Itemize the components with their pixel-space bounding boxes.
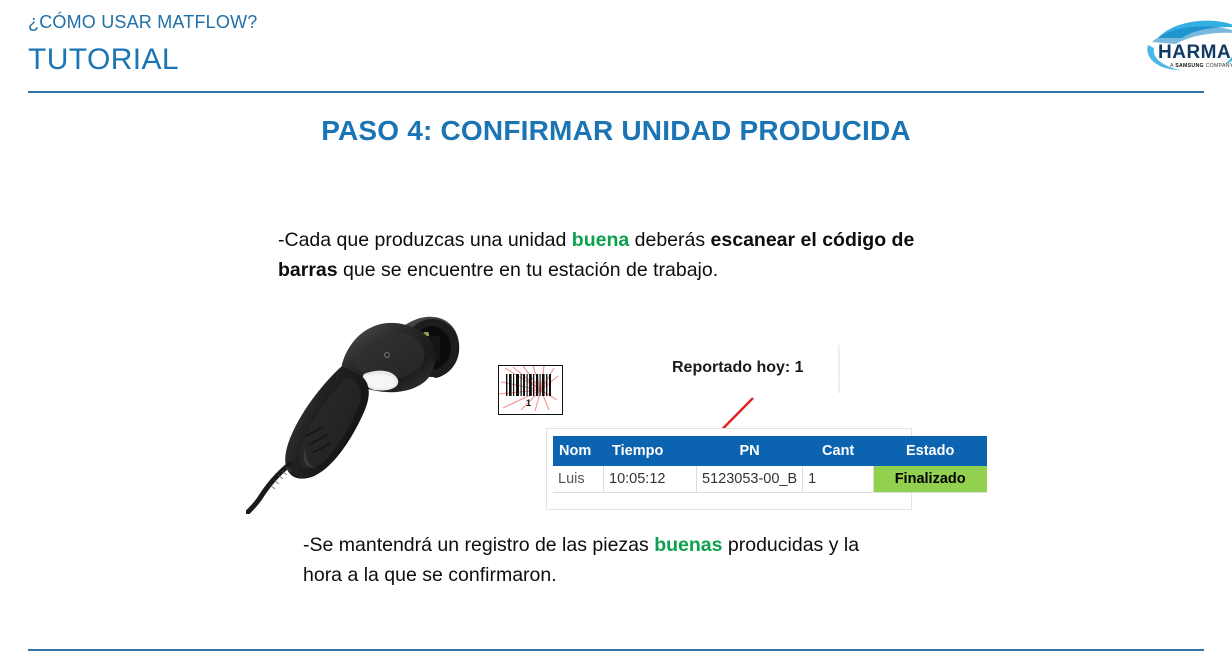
p1-highlight-buena: buena (572, 229, 629, 251)
table-row[interactable]: Luis 10:05:12 5123053-00_B 1 Finalizado (553, 466, 987, 493)
table-header-row: Nom Tiempo PN Cant Estado (553, 436, 987, 466)
column-header-pn[interactable]: PN (697, 436, 803, 466)
barcode-scanner-icon (246, 286, 496, 514)
production-table: Nom Tiempo PN Cant Estado Luis 10:05:12 … (553, 436, 987, 493)
header-divider (28, 91, 1204, 93)
svg-text:HARMAN: HARMAN (1158, 42, 1232, 63)
cell-nom: Luis (553, 466, 604, 493)
barcode-with-laser: 1 (498, 365, 563, 415)
status-badge: Finalizado (874, 466, 987, 493)
reportado-card-edge (838, 345, 841, 393)
cell-cant: 1 (803, 466, 874, 493)
barcode-scanner-image (246, 286, 496, 514)
cell-pn: 5123053-00_B (697, 466, 803, 493)
column-header-nom[interactable]: Nom (553, 436, 604, 466)
header-title: TUTORIAL (28, 43, 179, 77)
barcode-caption: 1 (526, 398, 531, 408)
footer-divider (28, 649, 1204, 651)
barcode-icon: 1 (499, 366, 559, 411)
column-header-estado[interactable]: Estado (874, 436, 987, 466)
svg-text:A SAMSUNG COMPANY: A SAMSUNG COMPANY (1170, 63, 1232, 69)
p2-highlight-buenas: buenas (654, 534, 722, 556)
slide-root: ¿CÓMO USAR MATFLOW? TUTORIAL HARMAN A SA… (0, 0, 1232, 656)
p1-part-4: que se encuentre en tu estación de traba… (338, 259, 719, 281)
page-title: PASO 4: CONFIRMAR UNIDAD PRODUCIDA (316, 112, 916, 149)
header-kicker: ¿CÓMO USAR MATFLOW? (28, 12, 257, 33)
harman-logo: HARMAN A SAMSUNG COMPANY (1128, 12, 1232, 74)
p2-part-0: -Se mantendrá un registro de las piezas (303, 534, 654, 556)
reportado-hoy-label: Reportado hoy: 1 (672, 359, 804, 377)
paragraph-registry-note: -Se mantendrá un registro de las piezas … (303, 531, 863, 590)
cell-tiempo: 10:05:12 (604, 466, 697, 493)
column-header-tiempo[interactable]: Tiempo (604, 436, 697, 466)
harman-logo-svg: HARMAN A SAMSUNG COMPANY (1128, 12, 1232, 74)
column-header-cant[interactable]: Cant (803, 436, 874, 466)
p1-part-0: -Cada que produzcas una unidad (278, 229, 572, 251)
p1-part-2: deberás (629, 229, 710, 251)
paragraph-scan-instruction: -Cada que produzcas una unidad buena deb… (278, 226, 918, 285)
